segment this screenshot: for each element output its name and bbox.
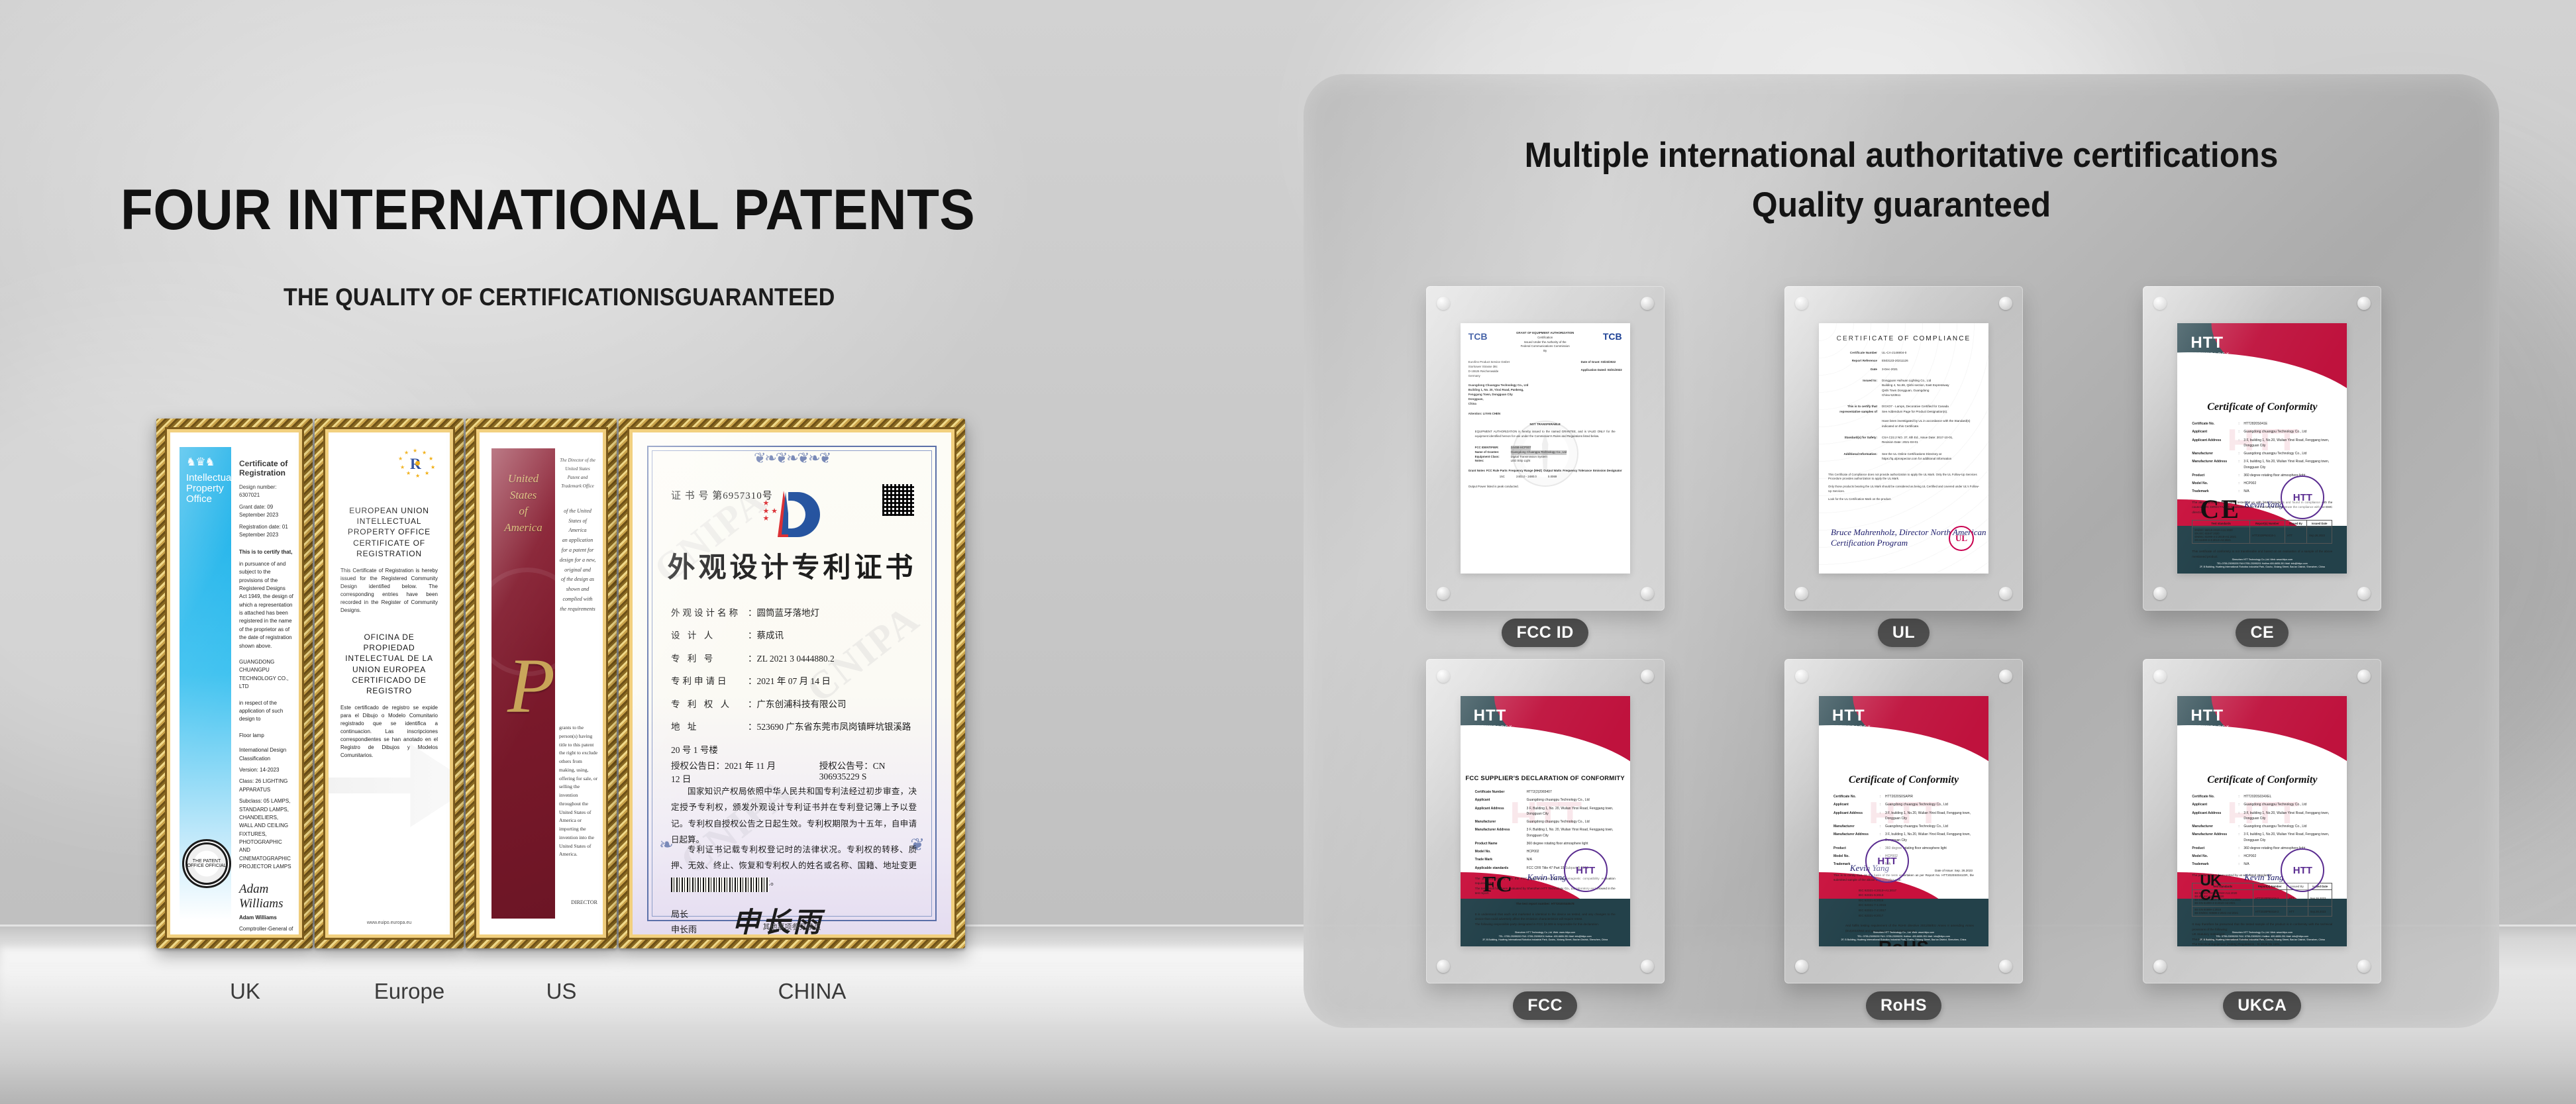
cert-badge-ce: CE [2236, 619, 2289, 647]
country-label-china: CHINA [638, 979, 986, 1004]
ce-field-row: Certificate No.:HTT2820S041E [2192, 421, 2332, 427]
uk-official-seal: THE PATENT OFFICE OFFICIAL [182, 839, 231, 888]
cn-certificate-title: 外观设计专利证书 [633, 545, 951, 585]
fcc-grant-dates: Date of Grant: 03/23/2022 Application Da… [1581, 360, 1622, 378]
eu-body-spanish: Este certificado de registro se expide p… [338, 704, 440, 760]
htt-stamp-icon: HTT [2281, 848, 2324, 892]
screw-icon [1999, 960, 2012, 973]
fcc-commission-seal-icon [1512, 421, 1578, 487]
uk-version: Version: 14-2023 [239, 766, 293, 774]
cert-paper-fcc-id: TCB TCB GRANT OF EQUIPMENT AUTHORIZATION… [1461, 323, 1630, 574]
screw-icon [1999, 670, 2012, 683]
uk-signer-name: Adam Williams [239, 914, 293, 922]
ukca-mark-icon: UKCA [2200, 874, 2220, 903]
htt-footer-text: Shenzhen HTT Technology Co.,Ltd. Web: ww… [1461, 931, 1630, 942]
ul-mark-icon: UL [1949, 526, 1974, 551]
ce-field-row: Applicant Address:3 F, building 1, No.20… [2192, 438, 2332, 449]
fcc-lab-address: Eurofins Product Service GmbHStorkower S… [1468, 360, 1510, 378]
cn-footer-note: 其他事项参见续页 [633, 921, 951, 932]
uk-grant-date: Grant date: 09 September 2023 [239, 503, 293, 520]
us-patent-text: The Director of the United States Patent… [555, 432, 603, 934]
crown-icon: ♞♛♞ [186, 456, 226, 468]
screw-icon [1795, 587, 1808, 600]
fcc-sdoc-title: FCC SUPPLIER'S DECLARATION OF CONFORMITY [1461, 774, 1630, 781]
htt-footer-text: Shenzhen HTT Technology Co., Ltd. Web: w… [1819, 931, 1988, 942]
cn-issue-date: 2021 年 11 月 12 日 [841, 933, 911, 934]
screw-icon [1437, 960, 1450, 973]
fcc-field-row: Manufacturer Address3 F, Building 1, No.… [1475, 827, 1616, 838]
patent-frame-europe[interactable]: ★ ★ ★ ★ ★ ★ ★ ★ ★ ★ R EUROPEAN UNION INT… [315, 419, 464, 948]
certifications-grid: TCB TCB GRANT OF EQUIPMENT AUTHORIZATION… [1400, 286, 2407, 1020]
cert-cell-ukca[interactable]: HTTTECHNOLOGY HTT Certificate of Conform… [2143, 659, 2381, 1020]
cn-field-row: 地 址：523690 广东省东莞市凤岗镇畔坑银溪路 20 号 1 号楼 [671, 716, 917, 762]
cn-header-ornament: ❦❧❦❧❦❧❦ [726, 450, 858, 470]
us-promote-line: The Director of the United States Patent… [559, 456, 596, 491]
screw-icon [1641, 297, 1654, 310]
screw-icon [1999, 297, 2012, 310]
screw-icon [2357, 960, 2371, 973]
euipo-logo: ★ ★ ★ ★ ★ ★ ★ ★ ★ ★ R [393, 448, 440, 477]
cn-certificate-number: 证 书 号 第6957310号 [671, 488, 773, 502]
uk-proprietor: GUANGDONG CHUANGPU TECHNOLOGY CO., LTD [239, 658, 293, 691]
ukca-field-row: Manufacturer Address:3 F, building 1, No… [2192, 832, 2332, 843]
uk-respect-line: in respect of the application of such de… [239, 699, 293, 724]
frame-inner-china: CNIPA CNIPA CNIPA ❦❧❦❧❦❧❦ ❧ ❦ 证 书 号 第695… [629, 429, 954, 938]
certifications-panel: Multiple international authoritative cer… [1304, 74, 2499, 1028]
rohs-issue-date: Date of Issue: Sep. 26.2023 [1935, 869, 1973, 872]
cert-cell-ce[interactable]: HTTTECHNOLOGY HTT Certificate of Conform… [2143, 286, 2381, 647]
eu-body-english: This Certificate of Registration is here… [338, 567, 440, 615]
certifications-title-line1: Multiple international authoritative cer… [1339, 130, 2463, 180]
tcb-logo-right: TCB [1603, 331, 1622, 342]
cert-paper-rohs: HTTTECHNOLOGY HTT Certificate of Conform… [1819, 696, 1988, 946]
eu-certificate-document: ★ ★ ★ ★ ★ ★ ★ ★ ★ ★ R EUROPEAN UNION INT… [329, 432, 450, 934]
page-subtitle: THE QUALITY OF CERTIFICATIONISGUARANTEED [283, 283, 835, 311]
table-row: BS EN 60598-1:2018 BS EN/IEC 60598-2:202… [2192, 907, 2332, 917]
uk-ipo-sidebar: ♞♛♞ Intellectual Property Office THE PAT… [180, 447, 231, 920]
frame-inner-uk: ♞♛♞ Intellectual Property Office THE PAT… [167, 429, 302, 938]
acrylic-panel-ul: CERTIFICATE OF COMPLIANCE Certificate Nu… [1784, 286, 2023, 611]
screw-icon [2357, 297, 2371, 310]
screw-icon [2357, 670, 2371, 683]
country-labels-row: UK Europe US CHINA [156, 979, 986, 1004]
screw-icon [1795, 297, 1808, 310]
htt-certificate-fcc: HTTTECHNOLOGY HTT FCC SUPPLIER'S DECLARA… [1461, 696, 1630, 946]
ukca-field-row: Certificate No.:HTT2020S034XEL [2192, 794, 2332, 799]
screw-icon [1437, 587, 1450, 600]
us-country-script: United States of America [491, 471, 555, 536]
cn-field-row: 外观设计名称：圆筒蓝牙落地灯 [671, 602, 917, 625]
euipo-r-mark: R [410, 456, 421, 473]
us-maroon-band: United States of America Pa [491, 448, 555, 919]
country-label-us: US [485, 979, 638, 1004]
acrylic-panel-ce: HTTTECHNOLOGY HTT Certificate of Conform… [2143, 286, 2381, 611]
screw-icon [1795, 670, 1808, 683]
cn-field-row: 专利申请日：2021 年 07 月 14 日 [671, 670, 917, 693]
uk-certificate-title: Certificate of Registration [239, 459, 293, 477]
fcc-field-row: ApplicantGuangdong chuangpu Technology C… [1475, 797, 1616, 803]
ukca-certificate-title: Certificate of Conformity [2177, 774, 2347, 786]
htt-certificate-ukca: HTTTECHNOLOGY HTT Certificate of Conform… [2177, 696, 2347, 946]
acrylic-panel-rohs: HTTTECHNOLOGY HTT Certificate of Conform… [1784, 659, 2023, 983]
cn-grant-row: 授权公告日：2021 年 11 月 12 日 授权公告号：CN 30693522… [671, 758, 917, 785]
screw-icon [1641, 587, 1654, 600]
patent-frame-us[interactable]: United States of America Pa The Director… [466, 419, 617, 948]
cert-badge-fcc-id: FCC ID [1502, 619, 1588, 647]
uk-certificate-body: Certificate of Registration Design numbe… [231, 432, 299, 934]
acrylic-panel-fcc-id: TCB TCB GRANT OF EQUIPMENT AUTHORIZATION… [1426, 286, 1665, 611]
cert-badge-fcc: FCC [1513, 991, 1577, 1020]
ce-field-row: Manufacturer Address:3 F, building 1, No… [2192, 459, 2332, 470]
ce-field-list: Certificate No.:HTT2820S041E Applicant:G… [2177, 421, 2347, 495]
uk-registration-date: Registration date: 01 September 2023 [239, 523, 293, 540]
rohs-standards-list: IEC 62321-4:2013+A1:2017 IEC 62321-5:201… [1819, 888, 1988, 918]
cert-cell-fcc[interactable]: HTTTECHNOLOGY HTT FCC SUPPLIER'S DECLARA… [1426, 659, 1665, 1020]
fcc-field-row: Applicant Address3 F, Building 1, No. 20… [1475, 806, 1616, 817]
screw-icon [1641, 670, 1654, 683]
country-label-uk: UK [156, 979, 334, 1004]
cn-field-row: 专 利 号：ZL 2021 3 0444880.2 [671, 648, 917, 670]
us-grants-text: grants to the person(s) having title to … [559, 724, 599, 859]
htt-certificate-ce: HTTTECHNOLOGY HTT Certificate of Conform… [2177, 323, 2347, 574]
cert-cell-rohs[interactable]: HTTTECHNOLOGY HTT Certificate of Conform… [1784, 659, 2023, 1020]
fcc-attention: Attention: LIYAN CHEN [1461, 407, 1630, 417]
htt-stamp-icon: HTT [1564, 848, 1608, 892]
rohs-field-row: Manufacturer Address:3 F, building 1, No… [1833, 832, 1974, 843]
htt-footer-text: Shenzhen HTT Technology Co.,Ltd. Web: ww… [2177, 558, 2347, 570]
cert-cell-fcc-id[interactable]: TCB TCB GRANT OF EQUIPMENT AUTHORIZATION… [1426, 286, 1665, 647]
page-title: FOUR INTERNATIONAL PATENTS [121, 177, 975, 243]
eu-title-spanish: OFICINA DE PROPIEDAD INTELECTUAL DE LA U… [338, 632, 440, 696]
rohs-field-row: Applicant:Guangdong chuangpu Technology … [1833, 802, 1974, 807]
fcc-field-row: ManufacturerGuangdong chuangpu Technolog… [1475, 819, 1616, 825]
uk-signer-title: Comptroller-General of Patents, Designs … [239, 925, 293, 938]
rohs-certificate-title: Certificate of Conformity [1819, 774, 1988, 786]
eu-title-english: EUROPEAN UNION INTELLECTUAL PROPERTY OFF… [338, 505, 440, 559]
screw-icon [2153, 587, 2167, 600]
certifications-title: Multiple international authoritative cer… [1339, 130, 2463, 230]
ukca-field-row: Manufacturer:Guangdong chuangpu Technolo… [2192, 824, 2332, 829]
htt-stamp-icon: HTT [2281, 476, 2324, 519]
cert-cell-ul[interactable]: CERTIFICATE OF COMPLIANCE Certificate Nu… [1784, 286, 2023, 647]
cn-grant-date: 授权公告日：2021 年 11 月 12 日 [671, 758, 778, 785]
screw-icon [1437, 670, 1450, 683]
us-body-lines: of the United States of America an appli… [559, 507, 596, 615]
cn-grant-number: 授权公告号：CN 306935229 S [819, 758, 917, 785]
us-patent-document: United States of America Pa The Director… [480, 432, 603, 934]
acrylic-panel-ukca: HTTTECHNOLOGY HTT Certificate of Conform… [2143, 659, 2381, 983]
cert-badge-ul: UL [1878, 619, 1930, 647]
eu-url: www.euipo.europa.eu [329, 921, 450, 925]
fcc-mark-icon: FC [1483, 872, 1512, 897]
uk-class: Class: 26 LIGHTING APPARATUS [239, 778, 293, 794]
qr-code-icon [882, 484, 914, 516]
rohs-field-row: Applicant Address:3 F, building 1, No.20… [1833, 811, 1974, 822]
uk-signature: Adam Williams [239, 882, 293, 911]
cert-paper-ce: HTTTECHNOLOGY HTT Certificate of Conform… [2177, 323, 2347, 574]
cn-field-list: 外观设计名称：圆筒蓝牙落地灯 设 计 人：蔡成讯 专 利 号：ZL 2021 3… [671, 602, 917, 762]
fcc-note-2: It is understood that each unit marketed… [1461, 912, 1630, 927]
ce-field-row: Applicant:Guangdong chuangpu Technology … [2192, 429, 2332, 434]
uk-classification: International Design Classification [239, 746, 293, 763]
us-patent-wordmark: Pa [507, 647, 555, 725]
cert-paper-ul: CERTIFICATE OF COMPLIANCE Certificate Nu… [1819, 323, 1988, 574]
table-row: EN/IEC 55015:2019+A11:2020 EN IEC 61547:… [2192, 527, 2332, 544]
screw-icon [1437, 297, 1450, 310]
cnipa-stars: ★★ ★★ [763, 500, 778, 523]
ukca-signature: Kevin Yang [2244, 872, 2283, 883]
ce-signature: Kevin Yang [2244, 499, 2283, 510]
htt-certificate-rohs: HTTTECHNOLOGY HTT Certificate of Conform… [1819, 696, 1988, 946]
screw-icon [1641, 960, 1654, 973]
htt-logo: HTTTECHNOLOGY [2190, 335, 2230, 356]
screw-icon [1999, 587, 2012, 600]
fcc-report-line: The test report number: HTT2020S40578 [1461, 901, 1630, 907]
uk-pursuance-text: in pursuance of and subject to the provi… [239, 560, 293, 650]
fcc-signature: Kevin Yang [1527, 872, 1567, 883]
cn-certificate-document: CNIPA CNIPA CNIPA ❦❧❦❧❦❧❦ ❧ ❦ 证 书 号 第695… [633, 432, 951, 934]
cnipa-emblem-icon: ★★ ★★ [762, 491, 823, 540]
patent-frame-china[interactable]: CNIPA CNIPA CNIPA ❦❧❦❧❦❧❦ ❧ ❦ 证 书 号 第695… [619, 419, 965, 948]
cnipa-d-shape [788, 492, 820, 537]
ukca-field-row: Applicant:Guangdong chuangpu Technology … [2192, 802, 2332, 807]
us-director-label: DIRECTOR [571, 898, 597, 908]
screw-icon [2153, 960, 2167, 973]
ukca-field-list: Certificate No.:HTT2020S034XEL Applicant… [2177, 794, 2347, 868]
tcb-logo-left: TCB [1468, 331, 1488, 342]
ce-certificate-title: Certificate of Conformity [2177, 401, 2347, 413]
rohs-field-row: Certificate No.:HTT2020S0SAPIR [1833, 794, 1974, 799]
uk-certify-line: This is to certify that, [239, 548, 293, 556]
country-label-europe: Europe [334, 979, 485, 1004]
cn-field-row: 设 计 人：蔡成讯 [671, 625, 917, 647]
screw-icon [2153, 670, 2167, 683]
uk-design-number: Design number: 6307021 [239, 483, 293, 500]
cn-barcode [671, 878, 769, 892]
uk-product: Floor lamp [239, 732, 293, 740]
htt-footer-text: Shenzhen HTT Technology Co.,Ltd. Web: ww… [2177, 931, 2347, 942]
screw-icon [1795, 960, 1808, 973]
acrylic-panel-fcc: HTTTECHNOLOGY HTT FCC SUPPLIER'S DECLARA… [1426, 659, 1665, 983]
cert-paper-fcc: HTTTECHNOLOGY HTT FCC SUPPLIER'S DECLARA… [1461, 696, 1630, 946]
fcc-field-row: Certificate NumberHTT2(2)2065407 [1475, 789, 1616, 795]
htt-logo: HTTTECHNOLOGY [1832, 708, 1872, 729]
screw-icon [2153, 297, 2167, 310]
uk-certificate-document: ♞♛♞ Intellectual Property Office THE PAT… [170, 432, 299, 934]
certifications-title-line2: Quality guaranteed [1339, 180, 2463, 230]
htt-logo: HTTTECHNOLOGY [2190, 708, 2230, 729]
cn-field-row: 专 利 权 人：广东创浦科技有限公司 [671, 693, 917, 716]
frame-inner-us: United States of America Pa The Director… [476, 429, 606, 938]
htt-stamp-icon: HTT [1865, 839, 1909, 883]
uk-office-name: Intellectual Property Office [186, 473, 226, 504]
fcc-field-row: Product Name360 degree rotating floor at… [1475, 841, 1616, 846]
cert-badge-ukca: UKCA [2223, 991, 2301, 1020]
cert-badge-rohs: RoHS [1866, 991, 1941, 1020]
ce-mark-icon: CE [2200, 493, 2241, 525]
patent-frames-row: ♞♛♞ Intellectual Property Office THE PAT… [156, 419, 967, 948]
cert-paper-ukca: HTTTECHNOLOGY HTT Certificate of Conform… [2177, 696, 2347, 946]
ce-field-row: Manufacturer:Guangdong chuangpu Technolo… [2192, 451, 2332, 456]
htt-logo: HTTTECHNOLOGY [1474, 708, 1514, 729]
frame-inner-europe: ★ ★ ★ ★ ★ ★ ★ ★ ★ ★ R EUROPEAN UNION INT… [325, 429, 453, 938]
rohs-field-row: Manufacturer:Guangdong chuangpu Technolo… [1833, 824, 1974, 829]
cn-paragraph-1: 国家知识产权局依照中华人民共和国专利法经过初步审查，决定授予专利权，颁发外观设计… [671, 783, 917, 848]
screw-icon [2357, 587, 2371, 600]
patent-frame-uk[interactable]: ♞♛♞ Intellectual Property Office THE PAT… [156, 419, 313, 948]
uk-subclass: Subclass: 05 LAMPS, STANDARD LAMPS, CHAN… [239, 797, 293, 872]
ukca-field-row: Applicant Address:3 F, building 1, No.20… [2192, 811, 2332, 822]
fcc-grantee-address: Guangdong Chuangpu Technology Co., LtdBu… [1461, 378, 1630, 406]
